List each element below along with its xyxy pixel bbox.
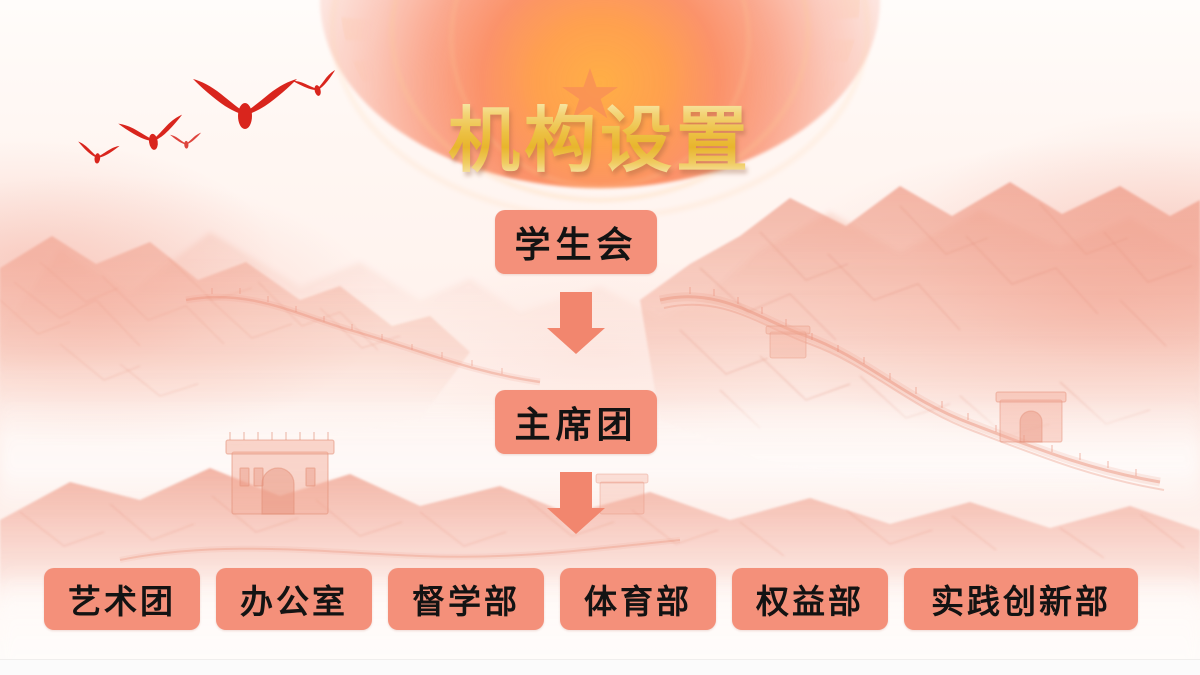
org-node-department-4[interactable]: 体育部 (560, 568, 716, 630)
page-title: 机构设置 (0, 104, 1200, 176)
arrow-head (547, 328, 605, 354)
arrow-shaft (560, 292, 592, 328)
org-node-student-union[interactable]: 学生会 (495, 210, 657, 274)
org-node-presidium[interactable]: 主席团 (495, 390, 657, 454)
bird-icon (293, 70, 340, 101)
slide-bottom-strip (0, 659, 1200, 675)
org-node-department-5[interactable]: 权益部 (732, 568, 888, 630)
org-node-department-1[interactable]: 艺术团 (44, 568, 200, 630)
org-node-department-6[interactable]: 实践创新部 (904, 568, 1138, 630)
org-node-department-2[interactable]: 办公室 (216, 568, 372, 630)
slide-canvas: 机构设置 学生会 主席团 艺术团 办公室 督学部 体育部 权益部 实践创新部 (0, 0, 1200, 675)
org-node-department-3[interactable]: 督学部 (388, 568, 544, 630)
arrow-down-icon (547, 472, 605, 534)
arrow-down-icon (547, 292, 605, 354)
arrow-shaft (560, 472, 592, 508)
arrow-head (547, 508, 605, 534)
